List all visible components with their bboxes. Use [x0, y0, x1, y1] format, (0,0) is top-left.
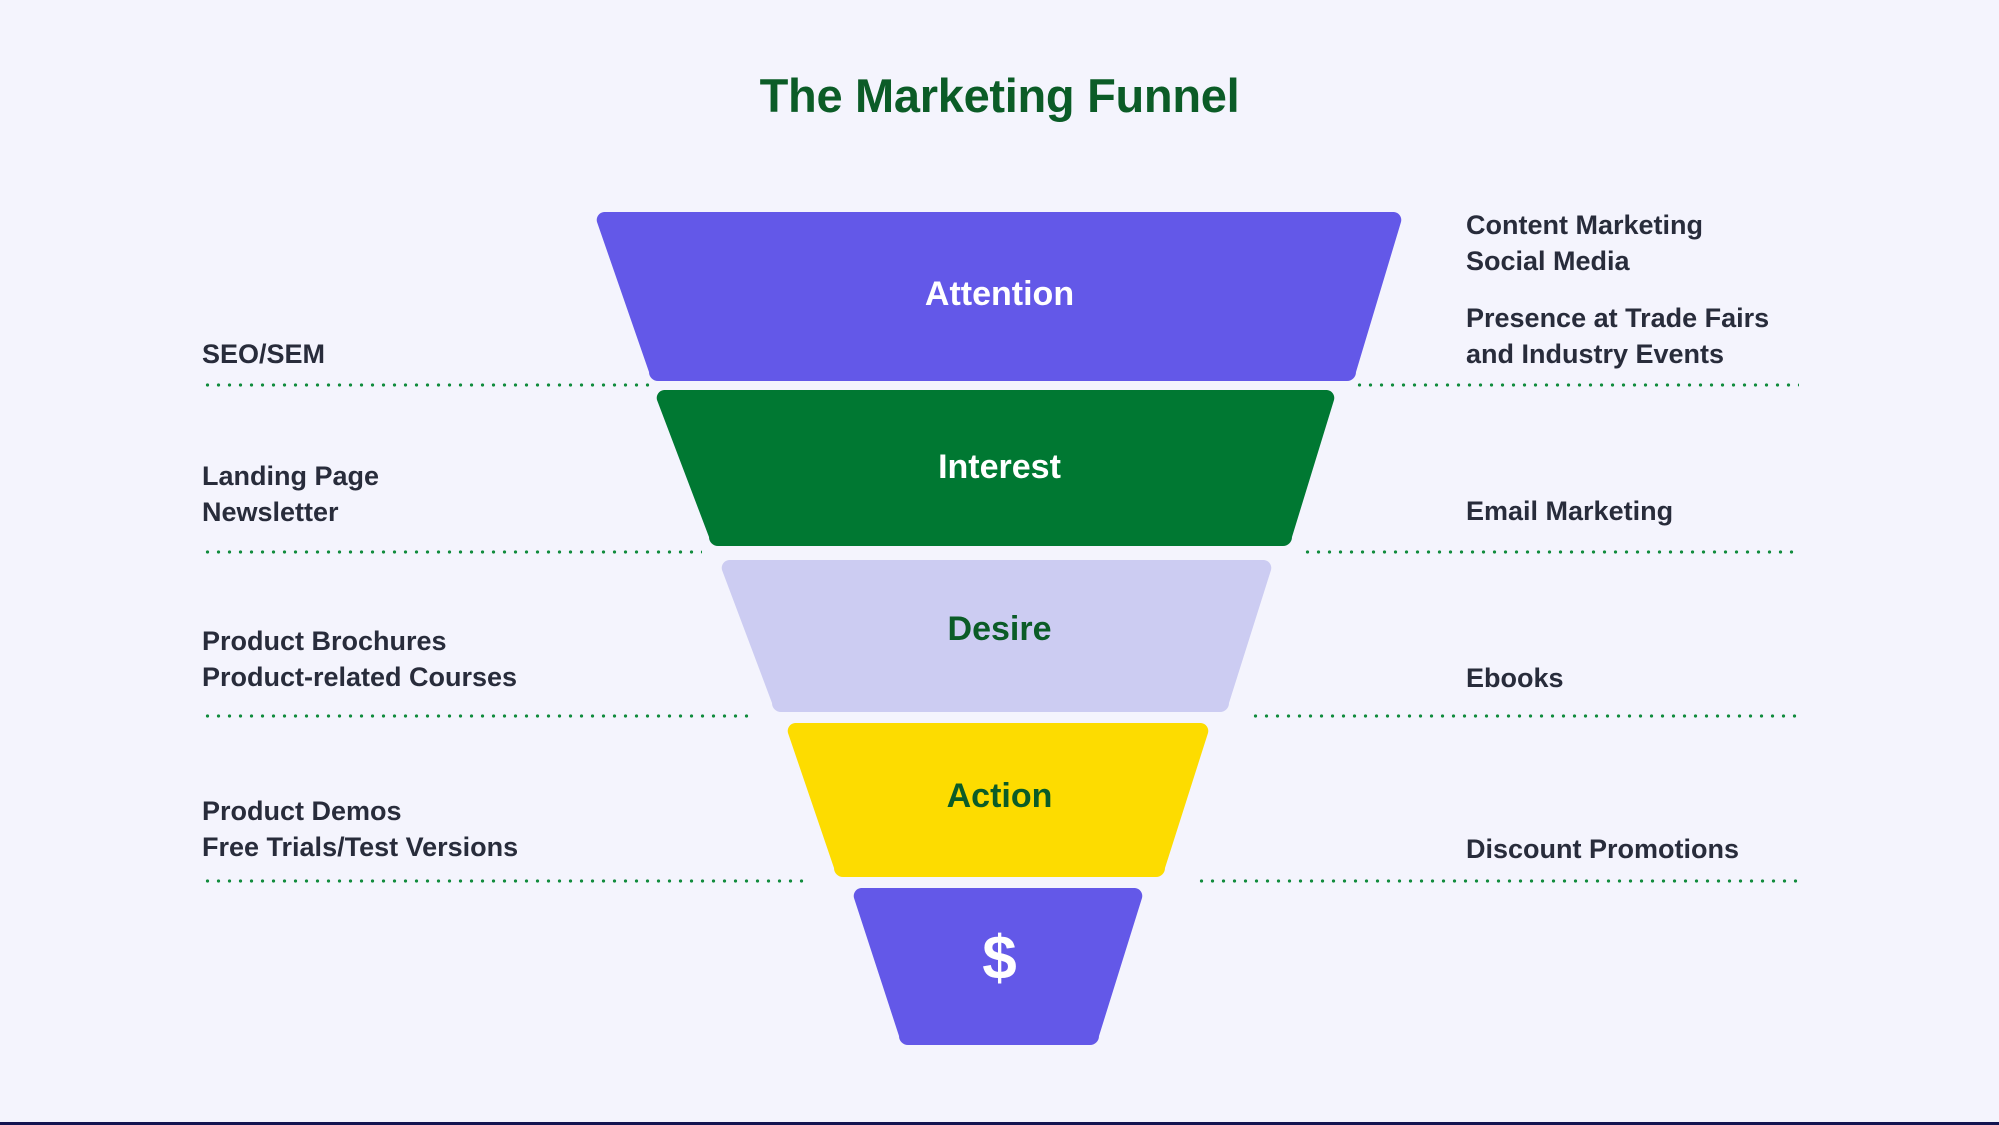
- divider-line-right-4: [1196, 879, 1799, 883]
- annotation-left-landing-newsletter: Landing Page Newsletter: [202, 458, 379, 530]
- annotation-right-content-marketing: Content Marketing Social Media: [1466, 207, 1703, 279]
- divider-line-left-2: [202, 550, 702, 554]
- divider-line-left-3: [202, 714, 754, 718]
- dollar-sign-icon: $: [0, 923, 1999, 994]
- annotation-left-seo-sem: SEO/SEM: [202, 336, 325, 372]
- annotation-left-product-brochures: Product Brochures Product-related Course…: [202, 623, 517, 695]
- page-title: The Marketing Funnel: [0, 68, 1999, 123]
- annotation-right-email-marketing: Email Marketing: [1466, 493, 1673, 529]
- divider-line-right-2: [1302, 550, 1799, 554]
- annotation-left-product-demos: Product Demos Free Trials/Test Versions: [202, 793, 518, 865]
- annotation-right-ebooks: Ebooks: [1466, 660, 1564, 696]
- divider-line-right-3: [1250, 714, 1799, 718]
- divider-line-right-1: [1354, 383, 1799, 387]
- divider-line-left-4: [202, 879, 810, 883]
- funnel-diagram-canvas: The Marketing Funnel Attention Interest …: [0, 0, 1999, 1125]
- annotation-right-discount: Discount Promotions: [1466, 831, 1739, 867]
- divider-line-left-1: [202, 383, 652, 387]
- annotation-right-trade-fairs: Presence at Trade Fairs and Industry Eve…: [1466, 300, 1769, 372]
